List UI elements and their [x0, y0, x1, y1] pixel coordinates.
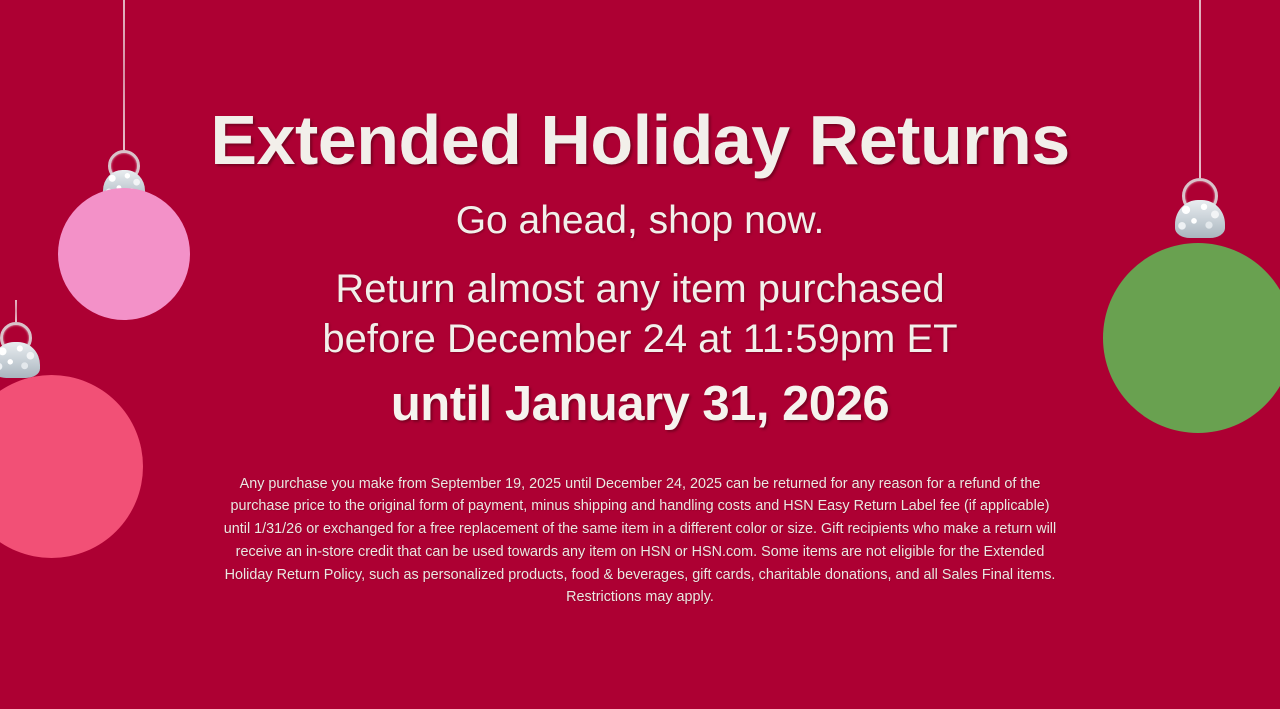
banner-body-line-1: Return almost any item purchased	[0, 242, 1280, 314]
banner-body-line-2: before December 24 at 11:59pm ET	[0, 314, 1280, 364]
holiday-returns-banner: Extended Holiday Returns Go ahead, shop …	[0, 0, 1280, 709]
banner-headline: Extended Holiday Returns	[0, 0, 1280, 178]
banner-content: Extended Holiday Returns Go ahead, shop …	[0, 0, 1280, 609]
banner-subhead: Go ahead, shop now.	[0, 178, 1280, 243]
banner-emphasis-date: until January 31, 2026	[0, 364, 1280, 432]
banner-fine-print: Any purchase you make from September 19,…	[220, 433, 1060, 610]
